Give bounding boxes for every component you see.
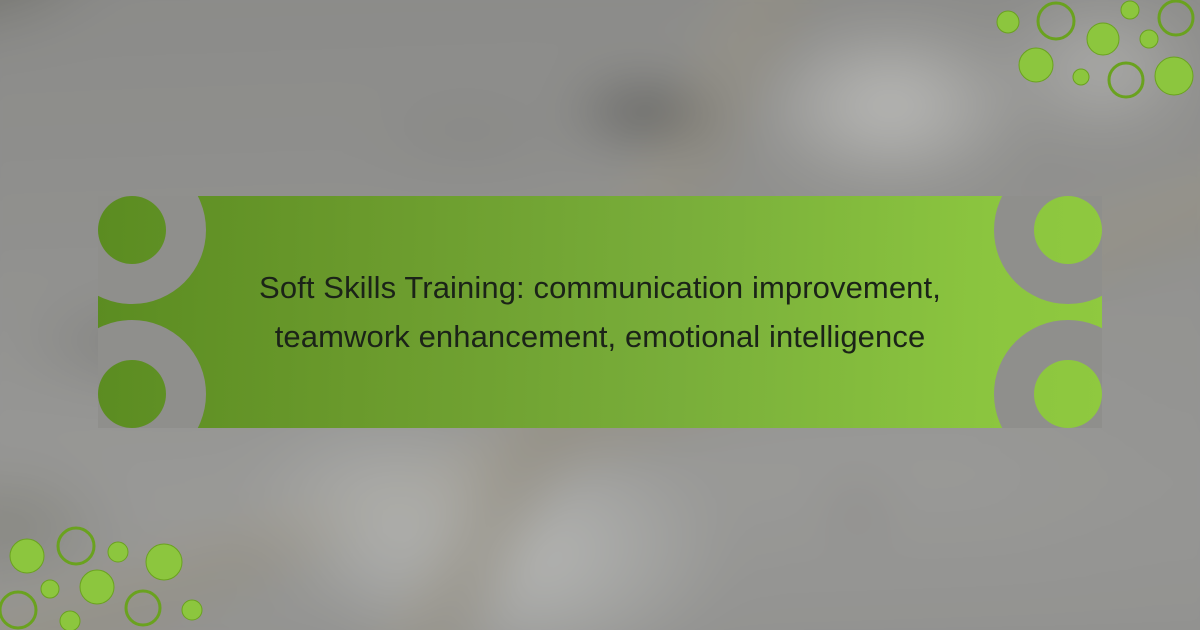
circle-group-tr — [997, 1, 1193, 97]
circle-group-bl — [0, 528, 202, 630]
promo-card: Soft Skills Training: communication impr… — [0, 0, 1200, 630]
circles-svg-bottom-left — [0, 510, 230, 630]
decorative-circles-bottom-left — [0, 510, 230, 630]
circles-svg-top-right — [990, 0, 1200, 110]
headline-banner: Soft Skills Training: communication impr… — [98, 196, 1102, 428]
headline-text: Soft Skills Training: communication impr… — [205, 263, 995, 361]
decorative-circles-top-right — [990, 0, 1200, 110]
